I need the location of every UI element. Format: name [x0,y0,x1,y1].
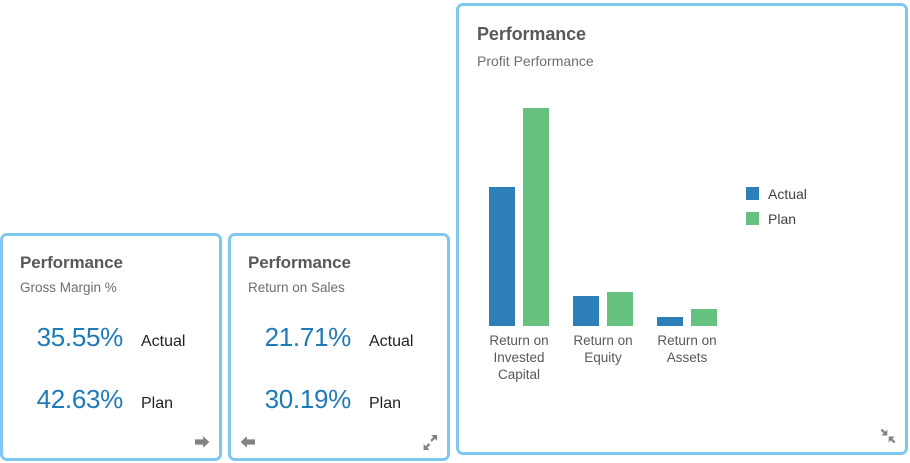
bar-plan-return-on-equity[interactable] [607,292,633,326]
x-axis-tick-label: Return on Equity [561,332,645,383]
kpi-card-gross-margin[interactable]: Performance Gross Margin % 35.55% Actual… [0,233,222,461]
kpi-card-gross-margin-subtitle: Gross Margin % [20,280,123,295]
legend-swatch-actual [746,187,759,200]
metric-row-plan: 30.19% Plan [231,384,447,446]
bar-group-return-on-assets [645,309,729,326]
metric-value-plan: 30.19% [231,384,351,415]
chart-card-profit-performance-body: Performance Profit Performance [459,6,905,452]
metric-label-actual: Actual [351,333,413,351]
kpi-card-gross-margin-header: Performance Gross Margin % [20,253,123,295]
metric-label-actual: Actual [123,333,185,351]
kpi-card-return-on-sales-body: Performance Return on Sales 21.71% Actua… [231,236,447,458]
metric-value-plan: 42.63% [3,384,123,415]
bar-actual-return-on-assets[interactable] [657,317,683,326]
arrow-right-icon[interactable] [193,433,211,451]
metric-row-actual: 21.71% Actual [231,322,447,384]
bar-plan-return-on-invested-capital[interactable] [523,108,549,326]
metric-label-plan: Plan [123,395,173,413]
page-title: Performance [477,24,594,45]
bar-plan-return-on-assets[interactable] [691,309,717,326]
page-title: Performance [248,253,351,273]
kpi-card-gross-margin-metrics: 35.55% Actual 42.63% Plan [3,322,219,446]
kpi-card-gross-margin-body: Performance Gross Margin % 35.55% Actual… [3,236,219,458]
legend-label-plan: Plan [768,211,796,227]
metric-row-plan: 42.63% Plan [3,384,219,446]
kpi-card-return-on-sales-metrics: 21.71% Actual 30.19% Plan [231,322,447,446]
bar-actual-return-on-equity[interactable] [573,296,599,326]
chart-card-header: Performance Profit Performance [477,24,594,69]
bar-group-return-on-invested-capital [477,108,561,326]
page-title: Performance [20,253,123,273]
kpi-card-return-on-sales-subtitle: Return on Sales [248,280,351,295]
bar-actual-return-on-invested-capital[interactable] [489,187,515,326]
x-axis-tick-label: Return on Invested Capital [477,332,561,383]
bar-groups [477,91,745,326]
expand-icon[interactable] [421,433,439,451]
collapse-icon[interactable] [879,427,897,445]
metric-label-plan: Plan [351,395,401,413]
x-axis-tick-label: Return on Assets [645,332,729,383]
legend-item-actual[interactable]: Actual [746,181,807,206]
chart-legend: Actual Plan [746,181,807,231]
legend-swatch-plan [746,212,759,225]
metric-value-actual: 21.71% [231,322,351,353]
legend-item-plan[interactable]: Plan [746,206,807,231]
arrow-left-icon[interactable] [239,433,257,451]
chart-subtitle: Profit Performance [477,53,594,69]
x-axis-tick-labels: Return on Invested Capital Return on Equ… [477,332,745,383]
chart-card-profit-performance[interactable]: Performance Profit Performance [456,3,908,455]
kpi-card-return-on-sales[interactable]: Performance Return on Sales 21.71% Actua… [228,233,450,461]
bar-group-return-on-equity [561,292,645,326]
legend-label-actual: Actual [768,186,807,202]
bar-chart-plot-area [477,91,745,326]
kpi-card-return-on-sales-header: Performance Return on Sales [248,253,351,295]
metric-row-actual: 35.55% Actual [3,322,219,384]
metric-value-actual: 35.55% [3,322,123,353]
